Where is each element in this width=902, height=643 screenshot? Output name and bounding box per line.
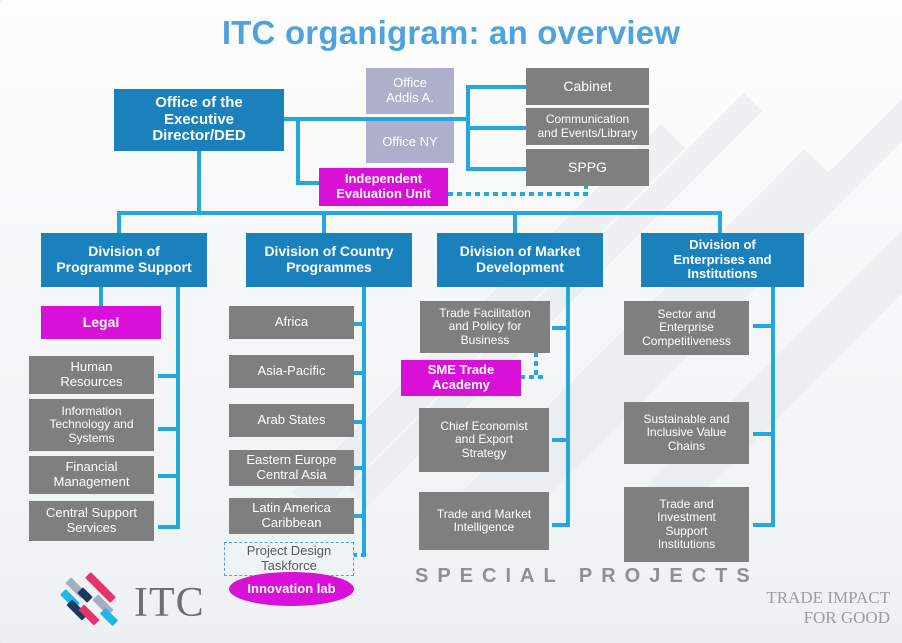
connector-div2-taskforce-dotted (352, 553, 366, 557)
connector-div1-css (158, 525, 178, 529)
innolab-line1: Innovation (247, 581, 313, 596)
node-office-executive-director[interactable]: Office of the Executive Director/DED (114, 89, 284, 151)
connector-to-sppg (466, 167, 526, 171)
tfpb-line3: Business (424, 334, 546, 347)
tfpb-line2: and Policy for (424, 320, 546, 333)
connector-div4-sustainable (753, 432, 773, 436)
node-division-market-development[interactable]: Division of Market Development (437, 233, 603, 287)
sme-line2: Academy (405, 378, 517, 393)
office-ny-label: Office NY (370, 135, 450, 150)
div3-line1: Division of Market (441, 244, 599, 260)
sme-line1: SME Trade (405, 363, 517, 378)
node-division-enterprises-institutions[interactable]: Division of Enterprises and Institutions (641, 233, 804, 287)
tagline-line1: TRADE IMPACT (690, 588, 890, 608)
sivc-line3: Chains (628, 440, 745, 453)
asia-label: Asia-Pacific (233, 364, 350, 379)
tmi-line2: Intelligence (423, 521, 545, 534)
office-addis-line2: Addis A. (370, 91, 450, 106)
connector-div3-tfpb (552, 326, 570, 330)
connector-offices-spine (296, 117, 300, 185)
node-office-ny[interactable]: Office NY (366, 121, 454, 163)
ce-line3: Strategy (423, 447, 545, 460)
connector-div1-spine (176, 287, 180, 529)
innolab-line2: lab (317, 581, 336, 596)
connector-div1-fin (158, 474, 178, 478)
node-project-design-taskforce[interactable]: Project Design Taskforce (224, 542, 354, 576)
connector-drop-div1 (117, 211, 121, 233)
tfpb-line1: Trade Facilitation (424, 307, 546, 320)
organigram-canvas: ITC organigram: an overview Office of th… (0, 0, 902, 643)
page-title: ITC organigram: an overview (0, 14, 902, 52)
connector-division-bus (117, 211, 722, 215)
node-central-support-services[interactable]: Central Support Services (29, 501, 154, 541)
comm-line1: Communication (530, 113, 645, 126)
node-innovation-lab[interactable]: Innovation lab (229, 572, 354, 606)
connector-div3-chief-econ (552, 438, 570, 442)
node-office-addis-ababa[interactable]: Office Addis A. (366, 68, 454, 114)
connector-to-communication (466, 126, 526, 130)
connector-div2-eeca (352, 466, 366, 470)
tmi-line1: Trade and Market (423, 508, 545, 521)
africa-label: Africa (233, 315, 350, 330)
node-communication-events-library[interactable]: Communication and Events/Library (526, 108, 649, 145)
tisi-line2: Investment (628, 511, 745, 524)
eeca-line2: Central Asia (233, 468, 350, 483)
exec-line3: Director/DED (118, 128, 280, 145)
ce-line2: and Export (423, 433, 545, 446)
tisi-line1: Trade and (628, 498, 745, 511)
node-trade-investment-support-institutions[interactable]: Trade and Investment Support Institution… (624, 487, 749, 562)
connector-div3-spine (566, 287, 570, 527)
its-line1: Information (33, 405, 150, 418)
node-cabinet[interactable]: Cabinet (526, 68, 649, 105)
node-sme-trade-academy[interactable]: SME Trade Academy (401, 360, 521, 396)
tagline-line2: FOR GOOD (690, 608, 890, 628)
fin-line2: Management (33, 475, 150, 490)
css-line2: Services (33, 521, 150, 536)
legal-label: Legal (45, 315, 157, 331)
tisi-line3: Support (628, 525, 745, 538)
connector-div1-stub (99, 287, 103, 307)
node-asia-pacific[interactable]: Asia-Pacific (229, 355, 354, 388)
exec-line2: Executive (118, 112, 280, 129)
connector-div3-sme-dotted (520, 375, 546, 379)
exec-line1: Office of the (118, 95, 280, 112)
connector-to-evaluation (296, 181, 320, 185)
sec-line3: Competitiveness (628, 335, 745, 348)
node-division-country-programmes[interactable]: Division of Country Programmes (246, 233, 412, 287)
node-eastern-europe-central-asia[interactable]: Eastern Europe Central Asia (229, 450, 354, 486)
div2-line1: Division of Country (250, 244, 408, 260)
node-trade-market-intelligence[interactable]: Trade and Market Intelligence (419, 492, 549, 550)
eeca-line1: Eastern Europe (233, 453, 350, 468)
connector-div4-spine (771, 287, 775, 527)
connector-div4-tisi (753, 523, 773, 527)
its-line3: Systems (33, 432, 150, 445)
sivc-line2: Inclusive Value (628, 426, 745, 439)
connector-div4-sector (753, 324, 773, 328)
div1-line2: Programme Support (45, 260, 203, 276)
div4-line3: Institutions (645, 267, 800, 282)
node-trade-facilitation-policy-business[interactable]: Trade Facilitation and Policy for Busine… (420, 301, 550, 353)
tisi-line4: Institutions (628, 538, 745, 551)
sec-line2: Enterprise (628, 321, 745, 334)
cabinet-label: Cabinet (530, 79, 645, 95)
node-sector-enterprise-competitiveness[interactable]: Sector and Enterprise Competitiveness (624, 301, 749, 355)
itc-logo-mark-icon (56, 575, 126, 633)
node-independent-evaluation-unit[interactable]: Independent Evaluation Unit (319, 168, 448, 206)
ieu-line2: Evaluation Unit (323, 187, 444, 202)
connector-div2-lac (352, 514, 366, 518)
node-division-programme-support[interactable]: Division of Programme Support (41, 233, 207, 287)
connector-div1-hr (158, 374, 178, 378)
node-sustainable-inclusive-value-chains[interactable]: Sustainable and Inclusive Value Chains (624, 402, 749, 464)
itc-logo: ITC (56, 575, 236, 635)
sec-line1: Sector and (628, 308, 745, 321)
footer-special-projects: SPECIAL PROJECTS (415, 565, 759, 588)
hr-line2: Resources (33, 375, 150, 390)
hr-line1: Human (33, 360, 150, 375)
sivc-line1: Sustainable and (628, 413, 745, 426)
div2-line2: Programmes (250, 260, 408, 276)
pdt-line1: Project Design (229, 544, 349, 559)
its-line2: Technology and (33, 418, 150, 431)
node-financial-management[interactable]: Financial Management (29, 456, 154, 494)
div3-line2: Development (441, 260, 599, 276)
node-information-technology-systems[interactable]: Information Technology and Systems (29, 399, 154, 451)
comm-line2: and Events/Library (530, 127, 645, 140)
lac-line2: Caribbean (233, 516, 350, 531)
div1-line1: Division of (45, 244, 203, 260)
connector-evaluation-dotted (448, 192, 588, 196)
connector-div2-arab (352, 420, 366, 424)
connector-drop-div4 (718, 211, 722, 233)
connector-drop-div3 (513, 211, 517, 233)
connector-ed-down (197, 151, 201, 213)
node-human-resources[interactable]: Human Resources (29, 356, 154, 394)
node-latin-america-caribbean[interactable]: Latin America Caribbean (229, 498, 354, 534)
node-arab-states[interactable]: Arab States (229, 404, 354, 437)
ce-line1: Chief Economist (423, 420, 545, 433)
node-sppg[interactable]: SPPG (526, 149, 649, 186)
css-line1: Central Support (33, 506, 150, 521)
node-africa[interactable]: Africa (229, 306, 354, 339)
office-addis-line1: Office (370, 76, 450, 91)
connector-div2-africa (352, 322, 366, 326)
connector-div2-asia (352, 371, 366, 375)
sppg-label: SPPG (530, 160, 645, 176)
div4-line2: Enterprises and (645, 253, 800, 268)
connector-div1-its (158, 427, 178, 431)
node-chief-economist-export-strategy[interactable]: Chief Economist and Export Strategy (419, 408, 549, 472)
lac-line1: Latin America (233, 501, 350, 516)
footer-tagline: TRADE IMPACT FOR GOOD (690, 588, 890, 627)
div4-line1: Division of (645, 238, 800, 253)
fin-line1: Financial (33, 460, 150, 475)
itc-logo-text: ITC (134, 579, 205, 627)
arab-label: Arab States (233, 413, 350, 428)
ieu-line1: Independent (323, 172, 444, 187)
node-legal[interactable]: Legal (41, 306, 161, 339)
connector-div3-sme-dotted-riser (534, 352, 538, 378)
connector-drop-div2 (322, 211, 326, 233)
connector-to-cabinet (466, 85, 526, 89)
connector-div3-tmi (552, 523, 570, 527)
